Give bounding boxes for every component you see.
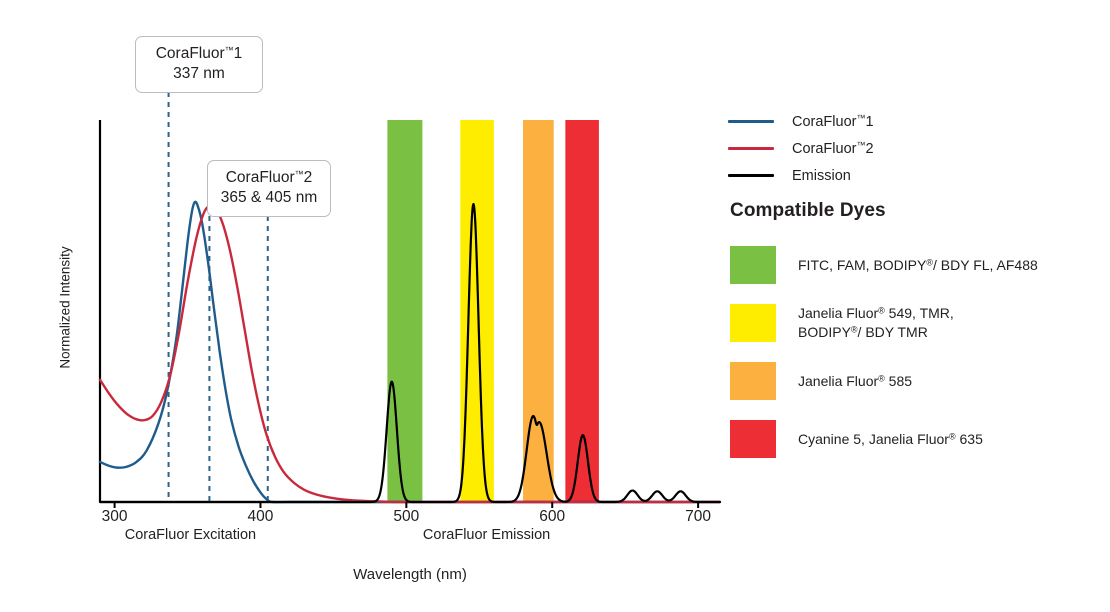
- series-legend: CoraFluor™1CoraFluor™2Emission: [728, 108, 1098, 189]
- x-tick-label-300: 300: [102, 508, 128, 526]
- legend-label-base-2: Emission: [792, 168, 851, 184]
- x-tick-label-700: 700: [685, 508, 711, 526]
- dye-color-swatch-1: [730, 304, 776, 342]
- trademark-icon: ™: [225, 45, 234, 55]
- dye-label-3-line1: Cyanine 5, Janelia Fluor® 635: [798, 430, 983, 449]
- dye-item-1: Janelia Fluor® 549, TMR,BODIPY®/ BDY TMR: [730, 294, 1102, 352]
- legend-label-base-0: CoraFluor: [792, 114, 856, 130]
- legend-item-1: CoraFluor™2: [728, 135, 1098, 162]
- legend-item-0: CoraFluor™1: [728, 108, 1098, 135]
- legend-line-swatch-2: [728, 174, 774, 177]
- registered-icon: ®: [851, 325, 858, 335]
- dye-label-1-line2-suffix: / BDY TMR: [858, 324, 928, 340]
- registered-icon: ®: [878, 306, 885, 316]
- registered-icon: ®: [949, 431, 956, 441]
- dye-label-3: Cyanine 5, Janelia Fluor® 635: [798, 430, 983, 449]
- fluorescence-spectra-figure: CoraFluor™1 337 nm CoraFluor™2 365 & 405…: [0, 0, 1110, 612]
- legend-label-suffix-0: 1: [865, 114, 873, 130]
- dye-item-3: Cyanine 5, Janelia Fluor® 635: [730, 410, 1102, 468]
- dye-item-2: Janelia Fluor® 585: [730, 352, 1102, 410]
- legend-item-2: Emission: [728, 162, 1098, 189]
- dye-color-swatch-0: [730, 246, 776, 284]
- x-tick-label-600: 600: [539, 508, 565, 526]
- dye-label-1-line1-suffix: 549, TMR,: [885, 305, 954, 321]
- x-tick-label-400: 400: [248, 508, 274, 526]
- y-axis-title: Normalized Intensity: [58, 218, 73, 398]
- dye-label-0: FITC, FAM, BODIPY®/ BDY FL, AF488: [798, 256, 1038, 275]
- dye-label-3-line1-suffix: 635: [956, 431, 983, 447]
- dye-label-1: Janelia Fluor® 549, TMR,BODIPY®/ BDY TMR: [798, 304, 954, 342]
- callout-corafluor2-line2: 365 & 405 nm: [220, 188, 318, 208]
- callout-corafluor1-line1: CoraFluor™1: [148, 44, 250, 64]
- dye-label-3-line1-base: Cyanine 5, Janelia Fluor: [798, 431, 949, 447]
- callout-corafluor1-line2: 337 nm: [148, 64, 250, 84]
- legend-label-base-1: CoraFluor: [792, 141, 856, 157]
- legend-label-1: CoraFluor™2: [792, 140, 874, 157]
- dye-label-0-line1-base: FITC, FAM, BODIPY: [798, 257, 926, 273]
- callout-corafluor2-line1: CoraFluor™2: [220, 168, 318, 188]
- dye-label-0-line1: FITC, FAM, BODIPY®/ BDY FL, AF488: [798, 256, 1038, 275]
- dye-label-0-line1-suffix: / BDY FL, AF488: [933, 257, 1038, 273]
- region-label-0: CoraFluor Excitation: [125, 527, 256, 543]
- callout-corafluor1-name: CoraFluor: [156, 45, 225, 62]
- x-tick-label-500: 500: [393, 508, 419, 526]
- callout-corafluor1-index: 1: [234, 45, 243, 62]
- region-label-1: CoraFluor Emission: [423, 527, 550, 543]
- callout-corafluor2: CoraFluor™2 365 & 405 nm: [207, 160, 331, 217]
- dye-label-2-line1-base: Janelia Fluor: [798, 373, 878, 389]
- callout-corafluor2-name: CoraFluor: [226, 169, 295, 186]
- legend-label-0: CoraFluor™1: [792, 113, 874, 130]
- x-axis-title: Wavelength (nm): [0, 566, 820, 583]
- dye-label-1-line1-base: Janelia Fluor: [798, 305, 878, 321]
- dye-color-swatch-3: [730, 420, 776, 458]
- emission-band-0: [387, 120, 422, 502]
- legend-line-swatch-1: [728, 147, 774, 150]
- legend-label-suffix-1: 2: [865, 141, 873, 157]
- callout-corafluor2-index: 2: [304, 169, 313, 186]
- dye-label-2: Janelia Fluor® 585: [798, 372, 912, 391]
- compatible-dyes-heading: Compatible Dyes: [730, 200, 886, 222]
- emission-band-3: [565, 120, 599, 502]
- dye-label-1-line2-base: BODIPY: [798, 324, 851, 340]
- legend-label-2: Emission: [792, 168, 851, 184]
- dye-item-0: FITC, FAM, BODIPY®/ BDY FL, AF488: [730, 236, 1102, 294]
- legend-line-swatch-0: [728, 120, 774, 123]
- dye-label-2-line1-suffix: 585: [885, 373, 912, 389]
- callout-corafluor1: CoraFluor™1 337 nm: [135, 36, 263, 93]
- dye-label-1-line1: Janelia Fluor® 549, TMR,: [798, 304, 954, 323]
- dye-color-swatch-2: [730, 362, 776, 400]
- registered-icon: ®: [878, 373, 885, 383]
- trademark-icon: ™: [295, 169, 304, 179]
- compatible-dyes-list: FITC, FAM, BODIPY®/ BDY FL, AF488Janelia…: [730, 236, 1102, 468]
- registered-icon: ®: [926, 257, 933, 267]
- dye-label-1-line2: BODIPY®/ BDY TMR: [798, 323, 954, 342]
- emission-band-1: [460, 120, 494, 502]
- dye-label-2-line1: Janelia Fluor® 585: [798, 372, 912, 391]
